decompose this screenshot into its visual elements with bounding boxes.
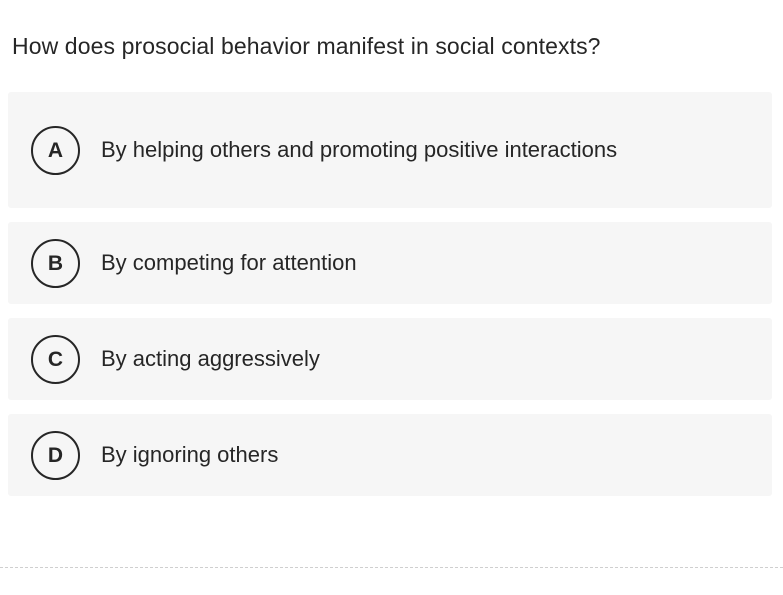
- option-letter-badge-a: A: [31, 126, 80, 175]
- option-label-b: By competing for attention: [101, 241, 357, 285]
- question-text: How does prosocial behavior manifest in …: [12, 30, 772, 62]
- answer-option-b[interactable]: B By competing for attention: [8, 222, 772, 304]
- option-letter-badge-c: C: [31, 335, 80, 384]
- option-label-c: By acting aggressively: [101, 337, 320, 381]
- answer-option-d[interactable]: D By ignoring others: [8, 414, 772, 496]
- answer-option-a[interactable]: A By helping others and promoting positi…: [8, 92, 772, 208]
- answer-options-list: A By helping others and promoting positi…: [8, 92, 772, 510]
- option-letter-badge-b: B: [31, 239, 80, 288]
- section-divider: [0, 567, 783, 568]
- answer-option-c[interactable]: C By acting aggressively: [8, 318, 772, 400]
- option-letter-badge-d: D: [31, 431, 80, 480]
- quiz-page: How does prosocial behavior manifest in …: [0, 0, 783, 595]
- option-label-d: By ignoring others: [101, 433, 278, 477]
- option-label-a: By helping others and promoting positive…: [101, 128, 617, 172]
